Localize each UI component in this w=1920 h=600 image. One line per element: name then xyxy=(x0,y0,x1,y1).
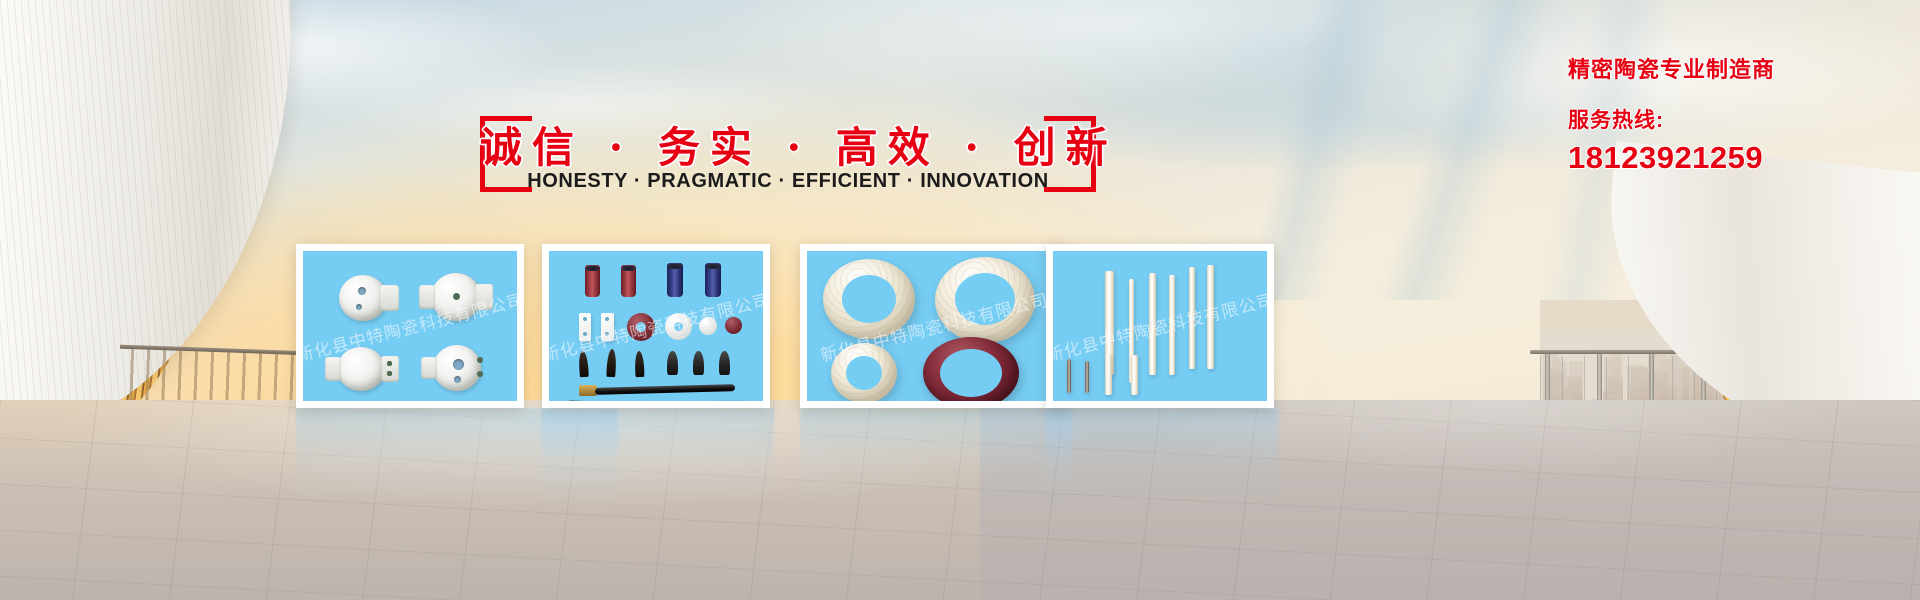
ceramic-plate-1 xyxy=(579,313,591,341)
slogan-block: 诚信 · 务实 · 高效 · 创新 HONESTY · PRAGMATIC · … xyxy=(480,108,1096,198)
ceramic-ring-large-1 xyxy=(823,259,915,339)
ceramic-socket-tr-tab-l xyxy=(419,285,435,309)
product-panel-4-canvas: 新化县中特陶瓷科技有限公司 xyxy=(1053,251,1267,401)
ceramic-tip-4 xyxy=(667,351,678,375)
ceramic-tip-1 xyxy=(578,351,589,378)
socket-contact xyxy=(387,361,392,366)
socket-contact xyxy=(387,371,392,376)
cable-assembly-2 xyxy=(567,400,717,401)
product-panel-4[interactable]: 新化县中特陶瓷科技有限公司 xyxy=(1046,244,1274,408)
product-panel-1-canvas: 新化县中特陶瓷科技有限公司 xyxy=(303,251,517,401)
panel-4-watermark: 新化县中特陶瓷科技有限公司 xyxy=(1053,286,1267,367)
ceramic-ring-large-2 xyxy=(935,257,1035,343)
ceramic-tip-6 xyxy=(719,351,730,375)
ceramic-pin-1 xyxy=(1067,359,1071,393)
product-panel-2-canvas: 新化县中特陶瓷科技有限公司 xyxy=(549,251,763,401)
ceramic-disc-maroon xyxy=(725,317,742,334)
product-panel-1[interactable]: 新化县中特陶瓷科技有限公司 xyxy=(296,244,524,408)
ceramic-rod-3 xyxy=(1149,273,1156,375)
cable-assembly-1 xyxy=(595,384,735,395)
socket-hole xyxy=(358,287,366,295)
ceramic-socket-bl-tab-r xyxy=(381,356,399,382)
ceramic-disc-white xyxy=(699,317,717,335)
ceramic-tip-5 xyxy=(693,351,704,375)
ceramic-tube-blue-2 xyxy=(705,263,721,297)
hotline-label: 服务热线: xyxy=(1568,104,1908,134)
ceramic-socket-bl-tab-l xyxy=(325,357,341,381)
hotline-phone-number[interactable]: 18123921259 xyxy=(1568,140,1908,176)
ceramic-tube-red-2 xyxy=(621,265,636,297)
ceramic-tip-3 xyxy=(635,351,645,377)
ceramic-rod-6 xyxy=(1207,265,1214,369)
ceramic-tube-blue-1 xyxy=(667,263,683,297)
ceramic-socket-tl-tab xyxy=(379,285,399,311)
hero-banner: 诚信 · 务实 · 高效 · 创新 HONESTY · PRAGMATIC · … xyxy=(0,0,1920,600)
ceramic-rod-4 xyxy=(1169,275,1175,375)
socket-contact xyxy=(477,371,483,377)
panel-reflection-4 xyxy=(1046,408,1278,504)
company-tagline: 精密陶瓷专业制造商 xyxy=(1568,52,1908,84)
product-panel-3-canvas: 新化县中特陶瓷科技有限公司 xyxy=(807,251,1061,401)
product-panel-2[interactable]: 新化县中特陶瓷科技有限公司 xyxy=(542,244,770,408)
ceramic-pin-3 xyxy=(1105,355,1112,395)
socket-hole xyxy=(356,304,362,310)
ceramic-socket-bl xyxy=(337,347,385,391)
slogan-english: HONESTY · PRAGMATIC · EFFICIENT · INNOVA… xyxy=(480,170,1096,193)
contact-block: 精密陶瓷专业制造商 服务热线: 18123921259 xyxy=(1568,52,1908,176)
ceramic-ring-white xyxy=(665,313,692,340)
ceramic-tube-red-1 xyxy=(585,265,600,297)
ceramic-tip-2 xyxy=(606,349,616,377)
ceramic-pin-4 xyxy=(1131,355,1138,395)
product-panel-3[interactable]: 新化县中特陶瓷科技有限公司 xyxy=(800,244,1068,408)
ceramic-plate-2 xyxy=(601,313,614,341)
socket-contact xyxy=(477,357,483,363)
ceramic-socket-tr-tab-r xyxy=(475,284,493,310)
panel-reflection-3 xyxy=(800,408,1072,504)
ceramic-ring-large-3 xyxy=(831,343,897,401)
ceramic-rod-5 xyxy=(1189,267,1195,369)
ceramic-ring-large-maroon xyxy=(923,337,1019,401)
ceramic-pin-2 xyxy=(1085,361,1089,393)
socket-hole xyxy=(453,359,464,370)
panel-reflection-2 xyxy=(542,408,774,504)
socket-contact xyxy=(453,293,460,300)
slogan-chinese: 诚信 · 务实 · 高效 · 创新 xyxy=(480,114,1096,175)
ceramic-ring-maroon xyxy=(627,313,655,341)
ceramic-socket-br-tab xyxy=(421,357,437,379)
socket-hole xyxy=(454,376,461,383)
